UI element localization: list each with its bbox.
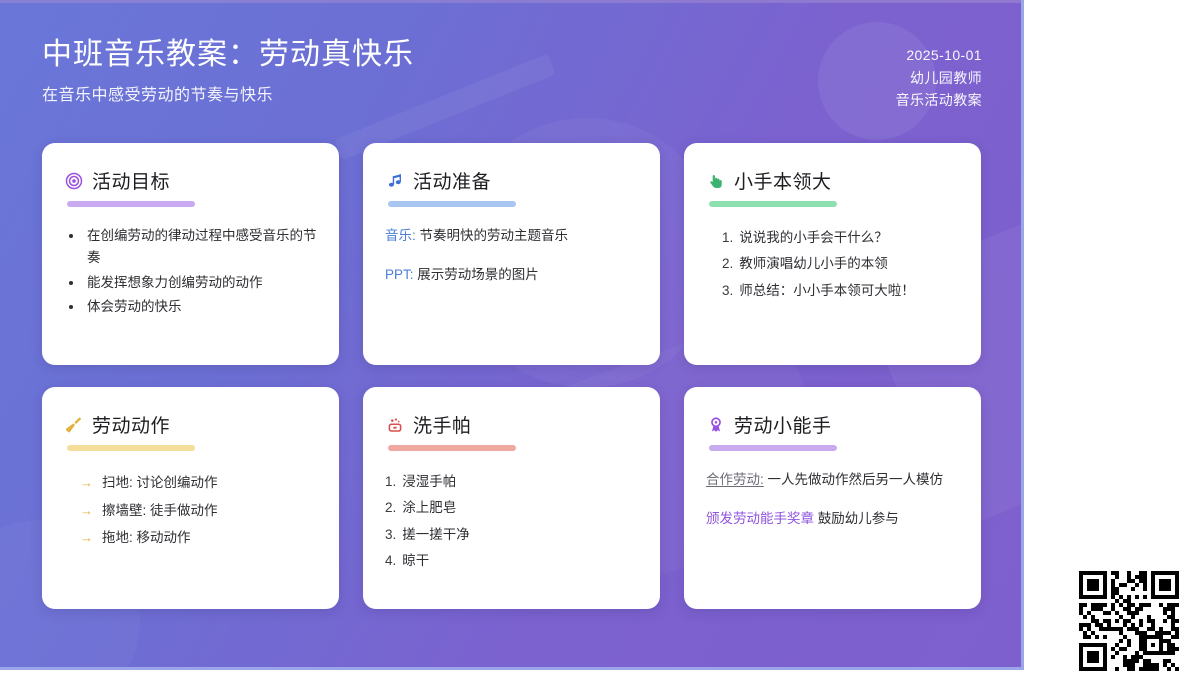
card-header: 劳动动作	[64, 411, 317, 438]
medal-icon	[706, 415, 725, 434]
slide-title: 中班音乐教案：劳动真快乐	[42, 36, 414, 74]
card-header: 活动准备	[385, 167, 638, 194]
music-note-icon	[385, 171, 404, 190]
list-item: 1.说说我的小手会干什么？	[722, 225, 959, 251]
list-item: →拖地: 移动动作	[80, 524, 317, 552]
list-item: 3.搓一搓干净	[385, 522, 638, 548]
key-value-value: 一人先做动作然后另一人模仿	[768, 472, 944, 487]
list-item-number: 2.	[385, 495, 396, 521]
key-value-value: 展示劳动场景的图片	[417, 267, 539, 282]
arrow-bullet-icon: →	[80, 525, 93, 552]
card-header: 小手本领大	[706, 167, 959, 194]
meta-author: 幼儿园教师	[896, 67, 982, 90]
card-grid: 活动目标在创编劳动的律动过程中感受音乐的节奏能发挥想象力创编劳动的动作体会劳动的…	[42, 143, 982, 609]
bullet-list: 在创编劳动的律动过程中感受音乐的节奏能发挥想象力创编劳动的动作体会劳动的快乐	[64, 225, 317, 318]
list-item-text: 晾干	[402, 548, 429, 574]
list-item-text: 涂上肥皂	[402, 495, 456, 521]
slide-header: 中班音乐教案：劳动真快乐 在音乐中感受劳动的节奏与快乐 2025-10-01 幼…	[0, 0, 1024, 140]
card-title: 活动准备	[413, 167, 491, 194]
list-item-number: 4.	[385, 548, 396, 574]
key-value-row: 音乐: 节奏明快的劳动主题音乐	[385, 225, 638, 247]
arrow-bullet-icon: →	[80, 498, 93, 525]
card-title: 劳动动作	[92, 411, 170, 438]
list-item-text: 搓一搓干净	[402, 522, 470, 548]
card-accent-rule	[67, 445, 195, 451]
key-value-key: 音乐:	[385, 228, 416, 243]
list-item-text: 师总结：小小手本领可大啦！	[739, 278, 915, 304]
card-accent-rule	[388, 445, 516, 451]
card-header: 活动目标	[64, 167, 317, 194]
key-value-row: 颁发劳动能手奖章 鼓励幼儿参与	[706, 508, 959, 530]
list-item: →扫地: 讨论创编动作	[80, 469, 317, 497]
list-item: 体会劳动的快乐	[84, 296, 317, 318]
card-activity-preparation: 活动准备音乐: 节奏明快的劳动主题音乐PPT: 展示劳动场景的图片	[363, 143, 660, 365]
slide-subtitle: 在音乐中感受劳动的节奏与快乐	[42, 81, 414, 105]
list-item-number: 2.	[722, 251, 733, 277]
card-activity-goals: 活动目标在创编劳动的律动过程中感受音乐的节奏能发挥想象力创编劳动的动作体会劳动的…	[42, 143, 339, 365]
card-accent-rule	[709, 445, 837, 451]
list-item: 2.涂上肥皂	[385, 495, 638, 521]
target-icon	[64, 171, 83, 190]
screenshot-root: 中班音乐教案：劳动真快乐 在音乐中感受劳动的节奏与快乐 2025-10-01 幼…	[0, 0, 1200, 675]
card-header: 劳动小能手	[706, 411, 959, 438]
list-item: 在创编劳动的律动过程中感受音乐的节奏	[84, 225, 317, 270]
numbered-list: 1.浸湿手帕2.涂上肥皂3.搓一搓干净4.晾干	[385, 469, 638, 574]
list-item-number: 1.	[722, 225, 733, 251]
slide-bottom-edge	[0, 667, 1024, 670]
card-accent-rule	[67, 201, 195, 207]
qr-code-image	[1079, 571, 1179, 671]
card-little-hands-skills: 小手本领大1.说说我的小手会干什么？2.教师演唱幼儿小手的本领3.师总结：小小手…	[684, 143, 981, 365]
key-value-row: 合作劳动: 一人先做动作然后另一人模仿	[706, 469, 959, 491]
hand-icon	[706, 171, 725, 190]
list-item: 能发挥想象力创编劳动的动作	[84, 272, 317, 294]
header-meta-block: 2025-10-01 幼儿园教师 音乐活动教案	[896, 44, 982, 112]
list-item: 2.教师演唱幼儿小手的本领	[722, 251, 959, 277]
meta-date: 2025-10-01	[896, 44, 982, 67]
arrow-bullet-icon: →	[80, 470, 93, 497]
card-title: 活动目标	[92, 167, 170, 194]
list-item-text: 教师演唱幼儿小手的本领	[739, 251, 888, 277]
soap-icon	[385, 415, 404, 434]
key-value-key: PPT:	[385, 267, 414, 282]
card-header: 洗手帕	[385, 411, 638, 438]
key-value-key: 颁发劳动能手奖章	[706, 511, 814, 526]
key-value-list: 合作劳动: 一人先做动作然后另一人模仿颁发劳动能手奖章 鼓励幼儿参与	[706, 469, 959, 529]
arrow-list: →扫地: 讨论创编动作→擦墙壁: 徒手做动作→拖地: 移动动作	[64, 469, 317, 552]
list-item: →擦墙壁: 徒手做动作	[80, 497, 317, 525]
key-value-list: 音乐: 节奏明快的劳动主题音乐PPT: 展示劳动场景的图片	[385, 225, 638, 285]
header-left-block: 中班音乐教案：劳动真快乐 在音乐中感受劳动的节奏与快乐	[42, 36, 414, 105]
card-title: 小手本领大	[734, 167, 832, 194]
qr-code[interactable]	[1079, 571, 1179, 671]
card-title: 洗手帕	[413, 411, 472, 438]
presentation-slide: 中班音乐教案：劳动真快乐 在音乐中感受劳动的节奏与快乐 2025-10-01 幼…	[0, 0, 1024, 670]
key-value-key: 合作劳动:	[706, 472, 764, 487]
key-value-value: 鼓励幼儿参与	[818, 511, 899, 526]
list-item-text: 扫地: 讨论创编动作	[102, 469, 218, 497]
meta-category: 音乐活动教案	[896, 89, 982, 112]
list-item-number: 3.	[722, 278, 733, 304]
card-accent-rule	[388, 201, 516, 207]
list-item-number: 3.	[385, 522, 396, 548]
card-wash-handkerchief: 洗手帕1.浸湿手帕2.涂上肥皂3.搓一搓干净4.晾干	[363, 387, 660, 609]
list-item: 1.浸湿手帕	[385, 469, 638, 495]
card-labor-expert: 劳动小能手合作劳动: 一人先做动作然后另一人模仿颁发劳动能手奖章 鼓励幼儿参与	[684, 387, 981, 609]
list-item: 4.晾干	[385, 548, 638, 574]
list-item-number: 1.	[385, 469, 396, 495]
list-item-text: 浸湿手帕	[402, 469, 456, 495]
key-value-value: 节奏明快的劳动主题音乐	[420, 228, 569, 243]
list-item-text: 擦墙壁: 徒手做动作	[102, 497, 218, 525]
numbered-list: 1.说说我的小手会干什么？2.教师演唱幼儿小手的本领3.师总结：小小手本领可大啦…	[706, 225, 959, 304]
list-item-text: 拖地: 移动动作	[102, 524, 191, 552]
card-labor-actions: 劳动动作→扫地: 讨论创编动作→擦墙壁: 徒手做动作→拖地: 移动动作	[42, 387, 339, 609]
broom-icon	[64, 415, 83, 434]
key-value-row: PPT: 展示劳动场景的图片	[385, 264, 638, 286]
card-title: 劳动小能手	[734, 411, 832, 438]
list-item: 3.师总结：小小手本领可大啦！	[722, 278, 959, 304]
card-accent-rule	[709, 201, 837, 207]
list-item-text: 说说我的小手会干什么？	[739, 225, 888, 251]
